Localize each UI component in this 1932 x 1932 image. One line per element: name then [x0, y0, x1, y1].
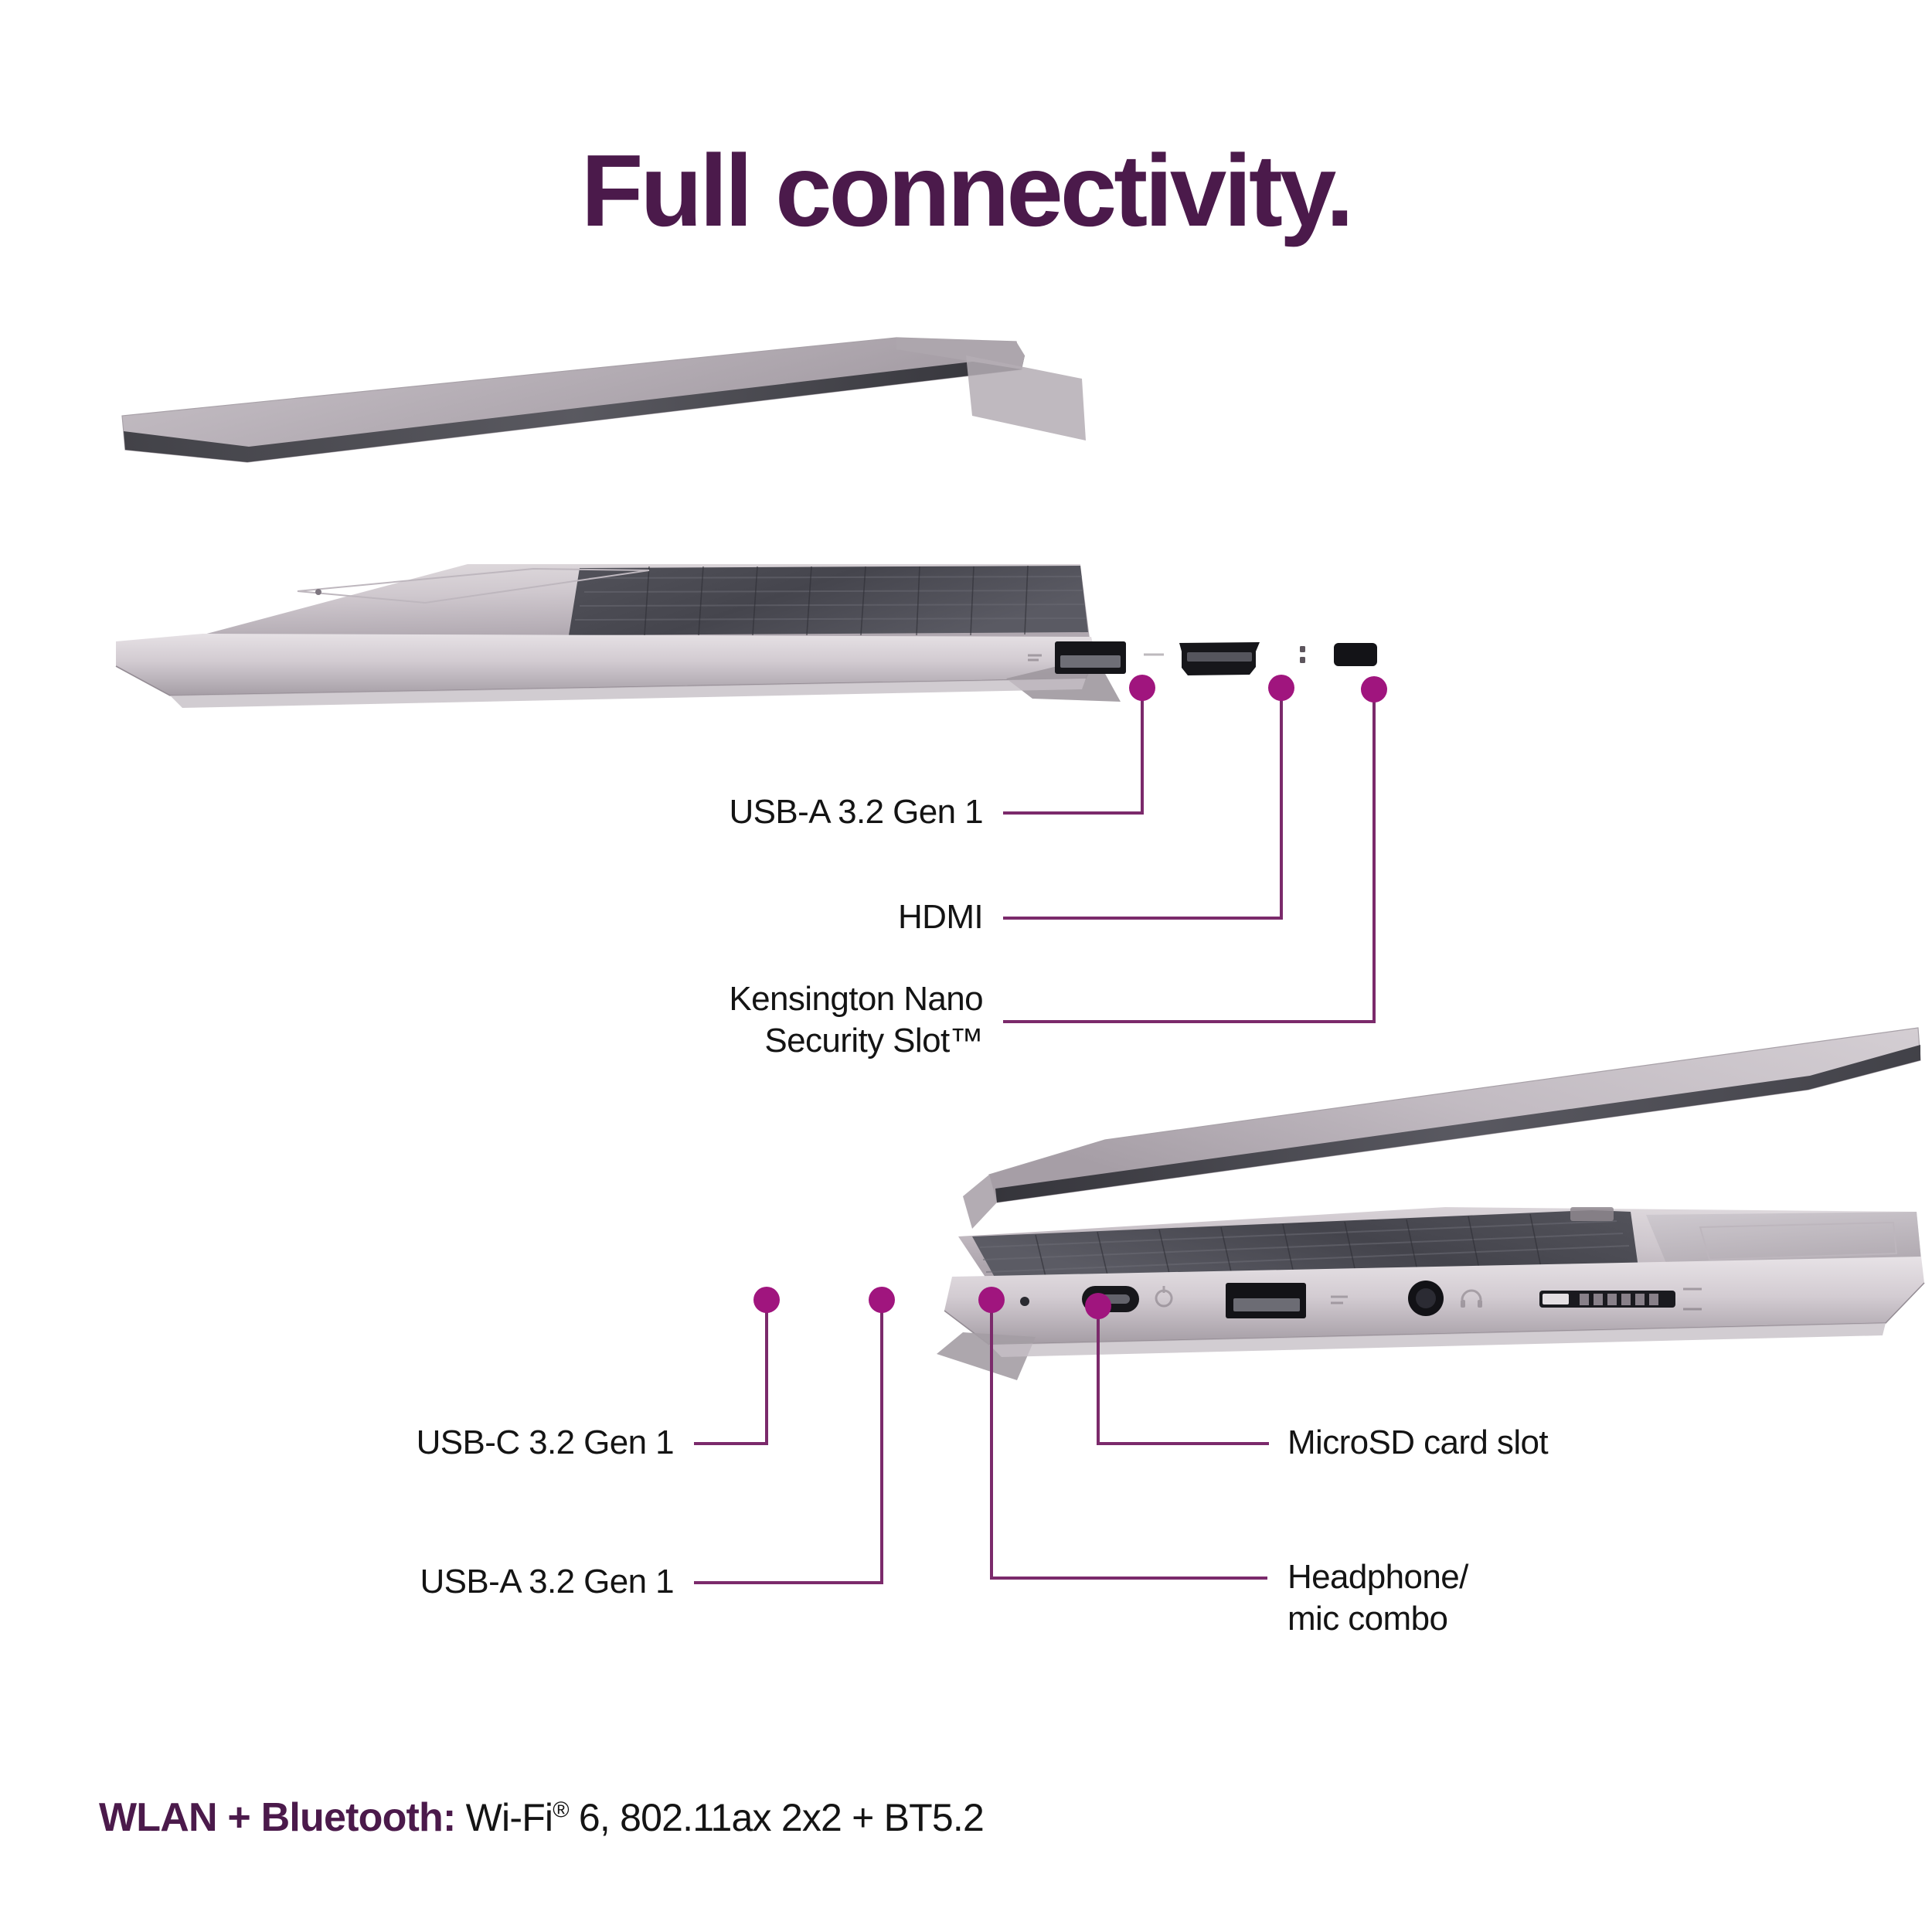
callout-label-usb-a-top: USB-A 3.2 Gen 1 — [464, 791, 983, 833]
page-title: Full connectivity. — [0, 138, 1932, 245]
laptop-keyboard-deck — [201, 564, 1090, 638]
laptop-lid — [122, 338, 1025, 462]
callout-label-usb-a-bottom: USB-A 3.2 Gen 1 — [155, 1561, 674, 1603]
footer-spec-key: WLAN + Bluetooth: — [99, 1795, 456, 1840]
footer-spec-value-post: 6, 802.11ax 2x2 + BT5.2 — [569, 1796, 984, 1839]
laptop-right-side-image — [116, 332, 1507, 765]
registered-trademark-icon: ® — [553, 1798, 569, 1822]
footer-spec-value-pre: Wi-Fi — [456, 1796, 553, 1839]
laptop-lid — [963, 1028, 1920, 1229]
laptop-base-side — [116, 634, 1377, 708]
power-button — [1570, 1207, 1614, 1221]
footer-spec-line: WLAN + Bluetooth: Wi-Fi® 6, 802.11ax 2x2… — [99, 1794, 984, 1841]
novo-pinhole — [1020, 1297, 1029, 1306]
callout-label-usb-c: USB-C 3.2 Gen 1 — [155, 1422, 674, 1464]
laptop-hinge — [966, 355, 1086, 440]
status-led — [1300, 646, 1305, 652]
laptop-base-side — [937, 1257, 1924, 1380]
callout-label-hdmi: HDMI — [464, 896, 983, 938]
callout-label-headphone: Headphone/ mic combo — [1287, 1556, 1875, 1639]
callout-leader-lines — [0, 0, 1932, 1932]
footer-spec-value: Wi-Fi® 6, 802.11ax 2x2 + BT5.2 — [456, 1796, 984, 1839]
laptop-left-side-image — [495, 1005, 1924, 1437]
kensington-lock-slot — [1334, 643, 1377, 666]
callout-label-kensington: Kensington Nano Security Slot™ — [464, 978, 983, 1061]
callout-label-microsd: MicroSD card slot — [1287, 1422, 1875, 1464]
